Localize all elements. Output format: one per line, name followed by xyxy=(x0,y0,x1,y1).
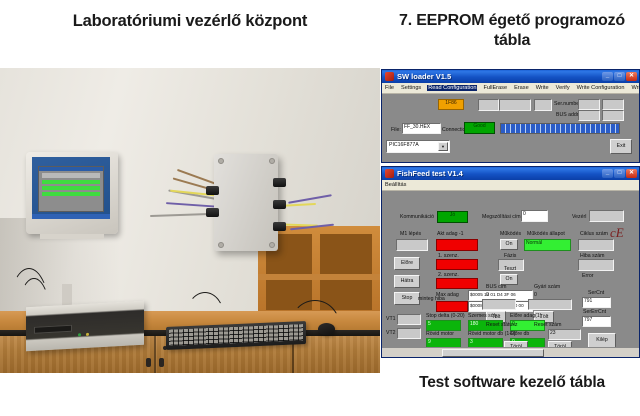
bus-cim-value: 0 xyxy=(486,292,489,298)
cabinet-handle-right xyxy=(159,358,164,367)
rovid-motor-db-label: Rövid motor db (1-9) xyxy=(468,331,516,337)
sw-loader-window[interactable]: SW loader V1.5 _ □ ✕ File Settings Read … xyxy=(381,69,640,163)
rovid-motor-label: Rövid motor xyxy=(426,331,454,337)
device-select-value: PIC16F877A xyxy=(389,142,419,148)
connection-status: Good xyxy=(464,122,495,134)
gyari-szam-label: Gyári szám xyxy=(534,284,560,290)
teszt-label: Teszt xyxy=(504,266,516,272)
config-field-1[interactable] xyxy=(478,99,499,111)
pc-power-led xyxy=(78,333,81,336)
mukodes-label: Működés xyxy=(500,231,521,237)
app-icon xyxy=(385,169,394,178)
cable-gland-right-3 xyxy=(273,222,286,231)
hatra-button[interactable]: Hátra xyxy=(394,275,420,288)
caption-left: Laboratóriumi vezérlő központ xyxy=(20,11,360,31)
max-adag-indicator xyxy=(436,301,468,312)
fishfeed-title: FishFeed test V1.4 xyxy=(397,169,602,178)
sercnt-label: SerCnt xyxy=(588,290,604,296)
maximize-icon[interactable]: □ xyxy=(614,169,625,178)
laboratory-photo xyxy=(0,68,380,373)
elore-db-label: Előre db xyxy=(510,331,529,337)
enclosure-screw-bl xyxy=(218,242,224,248)
kommunikacio-label: Kommunikáció xyxy=(400,214,434,220)
serial-number-label: Ser.number xyxy=(554,101,581,107)
maximize-icon[interactable]: □ xyxy=(614,72,625,81)
akt-adag-label: Akt adag -1 xyxy=(437,231,464,237)
vt2-label: VT2 xyxy=(386,330,396,336)
szemes-suly-label: Szemes súly xyxy=(468,313,497,319)
m1-lepes-field[interactable] xyxy=(396,239,428,251)
screen-green-bar-3 xyxy=(42,192,100,196)
close-icon[interactable]: ✕ xyxy=(626,72,637,81)
szenz2-indicator xyxy=(436,278,478,289)
enclosure-screw-tl xyxy=(218,158,224,164)
bus-addr-field-2[interactable] xyxy=(602,110,624,121)
mukodes-allapot-value: Normál xyxy=(524,239,571,251)
monitor-neck xyxy=(40,234,104,239)
kilep-button[interactable]: Kilép xyxy=(588,333,616,348)
kommunikacio-status: Jó xyxy=(437,211,468,223)
fishfeed-menubar[interactable]: Beállítás xyxy=(382,180,639,191)
stop-button[interactable]: Stop xyxy=(394,292,420,305)
device-select[interactable]: PIC16F877A ▼ xyxy=(386,140,450,153)
m1-lepes-label: M1 lépés xyxy=(400,231,421,237)
gyari-szam-field[interactable] xyxy=(528,299,572,310)
stop-delta-label: Stop delta (0-20) xyxy=(426,313,465,319)
menu-fullerase[interactable]: FullErase xyxy=(482,85,508,91)
hiba-szam-field[interactable] xyxy=(578,259,614,271)
app-icon xyxy=(385,72,394,81)
menu-write[interactable]: Write xyxy=(535,85,550,91)
serial-number-field-1[interactable] xyxy=(578,99,600,110)
file-input[interactable]: FF_30.HEX xyxy=(402,123,441,134)
caption-right: 7. EEPROM égető programozó tábla xyxy=(392,11,632,50)
screen-toolbar-row xyxy=(42,173,100,178)
vezerl-label: Vezérl xyxy=(572,214,586,220)
cable-gland-right-1 xyxy=(273,178,286,187)
status-tag: 1F86 xyxy=(438,99,464,110)
config-field-3[interactable] xyxy=(534,99,552,111)
bus-addr-field-1[interactable] xyxy=(578,110,600,121)
minteg-hiba-label: minteg hiba xyxy=(418,296,445,302)
elore-button[interactable]: Előre xyxy=(394,257,420,270)
cable-gland-left-1 xyxy=(206,186,219,195)
enclosure-screw-tr xyxy=(269,158,275,164)
mukodes-on-button[interactable]: On xyxy=(500,239,518,250)
sercnt-value: 791 xyxy=(582,297,611,308)
screen-taskbar xyxy=(32,214,110,219)
stop-delta-value[interactable]: 5 xyxy=(426,320,461,331)
exit-button[interactable]: Exit xyxy=(610,139,632,154)
sw-loader-body: 1F86 Ser.number BUS addr File: FF_30.HEX… xyxy=(382,94,639,162)
cable-gland-left-2 xyxy=(206,208,219,217)
sw-loader-titlebar[interactable]: SW loader V1.5 _ □ ✕ xyxy=(382,70,639,83)
screen-green-bar-1 xyxy=(42,180,100,184)
bus-addr-label: BUS addr xyxy=(556,112,579,118)
menu-read-configuration[interactable]: Read Configuration xyxy=(427,85,477,91)
minimize-icon[interactable]: _ xyxy=(602,72,613,81)
elore-adag-label: Előre adag(1) xyxy=(510,313,541,319)
megszolitasi-cim-input[interactable]: 0 xyxy=(521,210,548,222)
mukodes-allapot-label: Működés állapot xyxy=(527,231,565,237)
scrollbar-thumb[interactable] xyxy=(442,349,544,357)
config-field-2[interactable] xyxy=(499,99,531,111)
monitor-screen xyxy=(32,157,110,219)
close-icon[interactable]: ✕ xyxy=(626,169,637,178)
ciklus-szam-field[interactable] xyxy=(578,239,614,251)
file-label: File: xyxy=(391,127,401,133)
sw-loader-title: SW loader V1.5 xyxy=(397,72,602,81)
megszolitasi-cim-label: Megszólítási cím xyxy=(482,214,521,220)
serial-number-field-2[interactable] xyxy=(602,99,624,110)
screen-window-titlebar xyxy=(39,167,103,171)
reset-statusz-label: Reset státusz xyxy=(486,322,517,328)
menu-write-eeprom[interactable]: WriteEeprom xyxy=(630,85,640,91)
ciklus-szam-label: Ciklus szám xyxy=(580,231,608,237)
error-label: Error xyxy=(582,273,594,279)
sw-loader-menubar[interactable]: File Settings Read Configuration FullEra… xyxy=(382,83,639,94)
sererrcnt-value: 797 xyxy=(582,316,611,327)
reset-szam-value: 23 xyxy=(548,329,581,340)
pc-optical-drive xyxy=(34,325,72,334)
chevron-down-icon[interactable]: ▼ xyxy=(438,142,448,151)
screen-application-window xyxy=(38,166,104,212)
vt1-field[interactable] xyxy=(397,314,421,325)
bus-cim-field[interactable] xyxy=(482,299,516,310)
minimize-icon[interactable]: _ xyxy=(602,169,613,178)
fishfeed-body: cE Kommunikáció Jó Megszólítási cím 0 Ve… xyxy=(382,191,639,357)
akt-adag-indicator xyxy=(436,239,478,251)
menu-file[interactable]: File xyxy=(384,85,395,91)
cable-gland-right-2 xyxy=(273,200,286,209)
cabinet-handle-left xyxy=(146,358,151,367)
reset-szam-label: Reset szám xyxy=(534,322,561,328)
vezerl-field[interactable] xyxy=(589,210,624,222)
bus-cim-label: BUS cím xyxy=(486,284,506,290)
pc-activity-led xyxy=(86,333,89,336)
shelf-compartment-right xyxy=(320,234,372,274)
menu-verify[interactable]: Verify xyxy=(555,85,571,91)
screen-green-bar-2 xyxy=(42,186,100,190)
caption-bottom: Test software kezelő tábla xyxy=(392,374,632,393)
fishfeed-test-window[interactable]: FishFeed test V1.4 _ □ ✕ Beállítás cE Ko… xyxy=(381,166,640,358)
enclosure-screw-br xyxy=(269,242,275,248)
fishfeed-window-buttons[interactable]: _ □ ✕ xyxy=(602,169,637,178)
menu-write-configuration[interactable]: Write Configuration xyxy=(576,85,626,91)
gyari-szam-value: 0 xyxy=(534,292,537,298)
menu-settings[interactable]: Settings xyxy=(400,85,422,91)
control-enclosure xyxy=(214,154,278,251)
sererrcnt-label: SerErrCnt xyxy=(583,309,606,315)
horizontal-scrollbar[interactable] xyxy=(382,347,639,357)
vt2-field[interactable] xyxy=(397,328,421,339)
sw-loader-window-buttons[interactable]: _ □ ✕ xyxy=(602,72,637,81)
vt1-label: VT1 xyxy=(386,316,396,322)
progress-bar xyxy=(500,123,620,134)
fishfeed-titlebar[interactable]: FishFeed test V1.4 _ □ ✕ xyxy=(382,167,639,180)
menu-erase[interactable]: Erase xyxy=(513,85,530,91)
szenz1-indicator xyxy=(436,259,478,270)
menu-beallitas[interactable]: Beállítás xyxy=(384,182,407,188)
cabinet-seam-center xyxy=(154,336,156,373)
